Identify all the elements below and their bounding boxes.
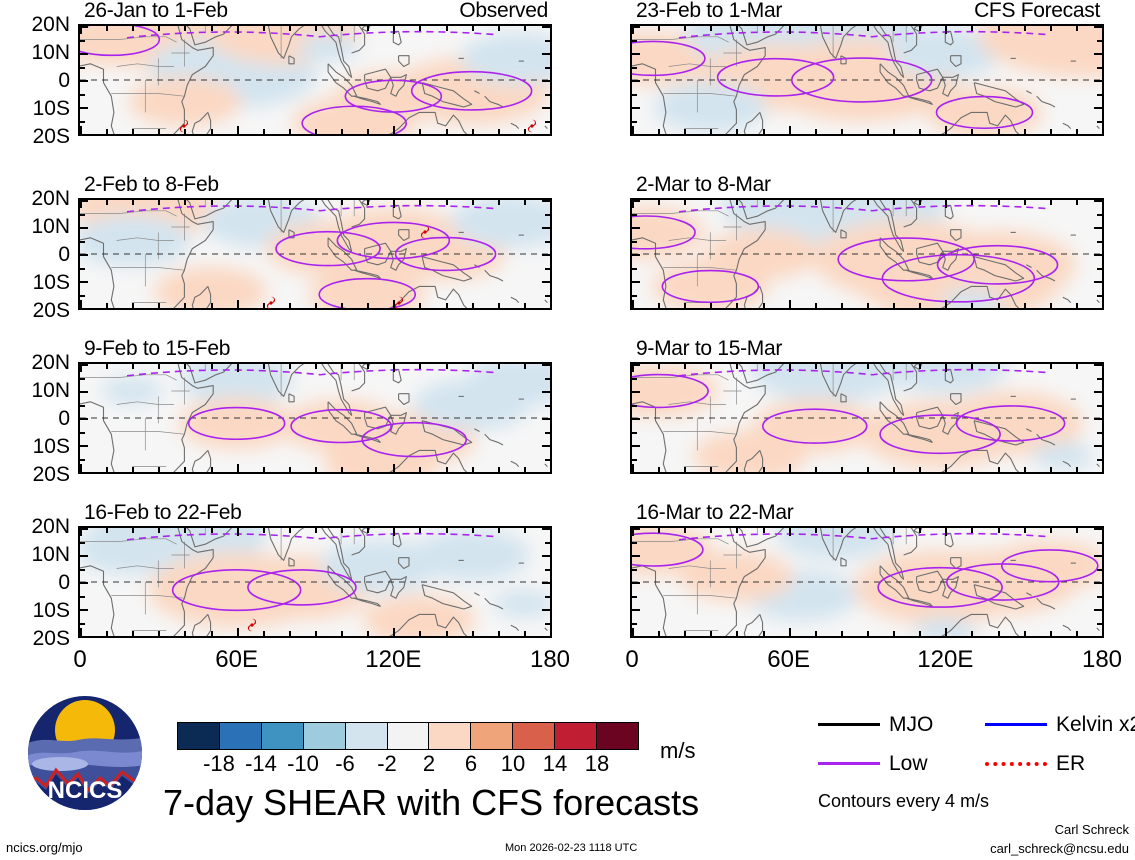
colorbar-unit-label: m/s	[660, 740, 695, 762]
map-panel-2[interactable]	[630, 24, 1104, 136]
y-tick-label-r4-10S: 10S	[0, 600, 70, 621]
panel-title-6: 9-Mar to 15-Mar	[636, 338, 782, 359]
colorbar-tick-14: 14	[543, 753, 567, 775]
map-field	[632, 26, 1102, 134]
y-tick-label-r1-20S: 20S	[0, 126, 70, 147]
legend-item-mjo: MJO	[818, 714, 933, 735]
colorbar-tick-labels: -18-14-10-6-226101418	[177, 753, 639, 779]
map-field	[632, 364, 1102, 472]
anomaly-band	[297, 34, 359, 62]
colorbar-swatch-8	[513, 723, 555, 749]
anomaly-band	[413, 529, 530, 581]
y-tick-label-r1-0: 0	[0, 70, 70, 91]
footer-author: Carl Schreck	[1055, 822, 1129, 837]
panel-title-3: 2-Feb to 8-Feb	[84, 174, 219, 195]
colorbar-swatch-5	[388, 723, 430, 749]
legend-line-kelvin	[985, 723, 1047, 726]
map-panel-3[interactable]	[78, 198, 552, 310]
panel-title-4: 2-Mar to 8-Mar	[636, 174, 771, 195]
colorbar-tick-6: 6	[465, 753, 477, 775]
x-tick-label-c1-180: 180	[530, 648, 570, 672]
legend-label-low: Low	[889, 753, 928, 774]
map-field	[632, 200, 1102, 308]
y-tick-label-r4-20S: 20S	[0, 628, 70, 649]
x-tick-label-c2-120E: 120E	[917, 648, 973, 672]
figure-canvas: 20N10N010S20S20N10N010S20S20N10N010S20S2…	[0, 0, 1135, 860]
legend-line-low	[818, 762, 880, 765]
colorbar-swatch-0	[178, 723, 220, 749]
y-tick-label-r3-10S: 10S	[0, 436, 70, 457]
y-tick-label-r1-20N: 20N	[0, 14, 70, 35]
ncics-logo-mark: NCICS	[26, 694, 144, 812]
y-tick-label-r4-0: 0	[0, 572, 70, 593]
map-panel-7[interactable]	[78, 526, 552, 638]
ncics-logo[interactable]: NCICS	[26, 694, 144, 812]
map-panel-8[interactable]	[630, 526, 1104, 638]
footer-site-link[interactable]: ncics.org/mjo	[6, 841, 83, 854]
footer-timestamp: Mon 2026-02-23 1118 UTC	[505, 843, 637, 854]
tropical-cyclone-marker	[527, 119, 537, 133]
map-field	[80, 200, 550, 308]
y-tick-label-r3-20N: 20N	[0, 352, 70, 373]
tropical-cyclone-marker	[266, 296, 276, 310]
y-tick-label-r4-10N: 10N	[0, 544, 70, 565]
legend-label-er: ER	[1056, 753, 1085, 774]
legend-label-mjo: MJO	[889, 714, 933, 735]
legend-line-er	[985, 762, 1047, 766]
colorbar-swatch-4	[346, 723, 388, 749]
x-tick-label-c1-120E: 120E	[365, 648, 421, 672]
colorbar-tick-2: 2	[423, 753, 435, 775]
map-panel-4[interactable]	[630, 198, 1104, 310]
y-tick-label-r2-20S: 20S	[0, 300, 70, 321]
y-tick-label-r3-0: 0	[0, 408, 70, 429]
map-field	[80, 26, 550, 134]
contour-interval-note: Contours every 4 m/s	[818, 792, 989, 810]
y-tick-label-r3-10N: 10N	[0, 380, 70, 401]
colorbar-swatch-9	[555, 723, 597, 749]
colorbar-swatch-3	[304, 723, 346, 749]
colorbar-swatch-6	[429, 723, 471, 749]
column-header-left: Observed	[78, 0, 548, 21]
colorbar-tick-18: 18	[585, 753, 609, 775]
map-panel-5[interactable]	[78, 362, 552, 474]
legend-label-kelvin: Kelvin x2	[1056, 714, 1135, 735]
x-tick-label-c1-0: 0	[73, 648, 86, 672]
x-tick-label-c2-0: 0	[625, 648, 638, 672]
tropical-cyclone-marker	[420, 225, 430, 239]
panel-title-5: 9-Feb to 15-Feb	[84, 338, 230, 359]
colorbar-swatch-2	[262, 723, 304, 749]
colorbar-tick--18: -18	[203, 753, 235, 775]
y-tick-label-r2-20N: 20N	[0, 188, 70, 209]
legend-item-low: Low	[818, 753, 928, 774]
y-tick-label-r1-10N: 10N	[0, 42, 70, 63]
footer-email[interactable]: carl_schreck@ncsu.edu	[990, 841, 1129, 856]
y-tick-label-r2-10S: 10S	[0, 272, 70, 293]
y-tick-label-r1-10S: 10S	[0, 98, 70, 119]
x-tick-label-c1-60E: 60E	[215, 648, 258, 672]
map-field	[632, 528, 1102, 636]
ncics-logo-text: NCICS	[48, 777, 123, 804]
legend-item-kelvin: Kelvin x2	[985, 714, 1135, 735]
y-tick-label-r2-10N: 10N	[0, 216, 70, 237]
map-field	[80, 364, 550, 472]
colorbar-tick--2: -2	[377, 753, 397, 775]
colorbar-tick--6: -6	[335, 753, 355, 775]
anomaly-band	[101, 377, 163, 405]
tropical-cyclone-marker	[394, 296, 404, 310]
legend-line-mjo	[818, 723, 880, 726]
tropical-cyclone-marker	[247, 618, 257, 632]
x-tick-label-c2-60E: 60E	[767, 648, 810, 672]
panel-title-7: 16-Feb to 22-Feb	[84, 502, 241, 523]
colorbar	[177, 722, 639, 750]
y-tick-label-r4-20N: 20N	[0, 516, 70, 537]
column-header-right: CFS Forecast	[630, 0, 1100, 21]
tropical-cyclone-marker	[179, 119, 189, 133]
colorbar-tick-10: 10	[501, 753, 525, 775]
colorbar-swatch-10	[597, 723, 638, 749]
legend-item-er: ER	[985, 753, 1085, 774]
anomaly-band	[178, 397, 295, 449]
anomaly-band	[654, 82, 767, 133]
colorbar-tick--10: -10	[287, 753, 319, 775]
y-tick-label-r2-0: 0	[0, 244, 70, 265]
colorbar-swatch-1	[220, 723, 262, 749]
map-panel-6[interactable]	[630, 362, 1104, 474]
figure-title: 7-day SHEAR with CFS forecasts	[163, 785, 699, 821]
colorbar-swatch-7	[471, 723, 513, 749]
x-tick-label-c2-180: 180	[1082, 648, 1122, 672]
map-field	[80, 528, 550, 636]
panel-title-8: 16-Mar to 22-Mar	[636, 502, 793, 523]
y-tick-label-r3-20S: 20S	[0, 464, 70, 485]
anomaly-band	[1032, 442, 1094, 470]
map-panel-1[interactable]	[78, 24, 552, 136]
colorbar-tick--14: -14	[245, 753, 277, 775]
